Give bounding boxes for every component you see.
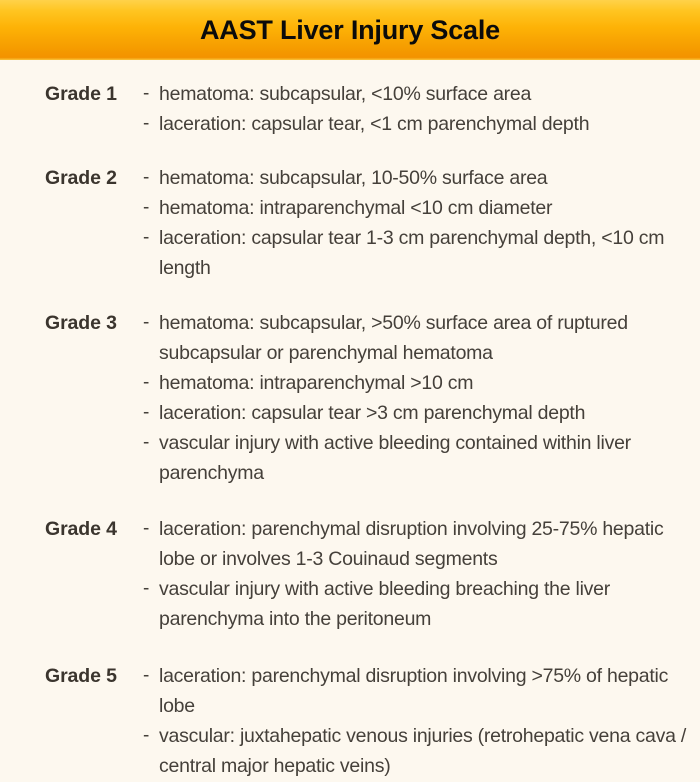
- grade-row-4: Grade 4 - laceration: parenchymal disrup…: [0, 514, 700, 634]
- list-item: - hematoma: intraparenchymal <10 cm diam…: [143, 193, 696, 223]
- grade-items-3: - hematoma: subcapsular, >50% surface ar…: [143, 308, 696, 488]
- grade-items-1: - hematoma: subcapsular, <10% surface ar…: [143, 79, 696, 139]
- list-item-text: laceration: capsular tear >3 cm parenchy…: [159, 398, 696, 428]
- grade-label-4: Grade 4: [45, 514, 143, 544]
- list-item-text: hematoma: subcapsular, <10% surface area: [159, 79, 696, 109]
- aast-liver-injury-scale-sheet: AAST Liver Injury Scale Grade 1 - hemato…: [0, 0, 700, 782]
- list-item-text: laceration: parenchymal disruption invol…: [155, 661, 696, 721]
- grade-row-2: Grade 2 - hematoma: subcapsular, 10-50% …: [0, 163, 700, 283]
- list-item-text: vascular: juxtahepatic venous injuries (…: [155, 721, 696, 781]
- grade-list: Grade 1 - hematoma: subcapsular, <10% su…: [0, 79, 700, 781]
- list-item: - vascular injury with active bleeding b…: [143, 574, 696, 634]
- list-item: - hematoma: intraparenchymal >10 cm: [143, 368, 696, 398]
- list-item-text: laceration: capsular tear, <1 cm parench…: [159, 109, 696, 139]
- list-item-text: hematoma: intraparenchymal <10 cm diamet…: [159, 193, 696, 223]
- list-item-text: vascular injury with active bleeding bre…: [155, 574, 696, 634]
- grade-label-1: Grade 1: [45, 79, 143, 109]
- grade-row-5: Grade 5 - laceration: parenchymal disrup…: [0, 661, 700, 781]
- grade-items-4: - laceration: parenchymal disruption inv…: [143, 514, 696, 634]
- list-item-text: vascular injury with active bleeding con…: [155, 428, 696, 488]
- list-item-text: laceration: capsular tear 1-3 cm parench…: [155, 223, 696, 283]
- list-item: - hematoma: subcapsular, 10-50% surface …: [143, 163, 696, 193]
- list-item: - laceration: capsular tear 1-3 cm paren…: [143, 223, 696, 283]
- list-item: - laceration: capsular tear, <1 cm paren…: [143, 109, 696, 139]
- grade-label-5: Grade 5: [45, 661, 143, 691]
- list-item: - laceration: capsular tear >3 cm parenc…: [143, 398, 696, 428]
- list-item: - laceration: parenchymal disruption inv…: [143, 514, 696, 574]
- list-item-text: hematoma: intraparenchymal >10 cm: [159, 368, 696, 398]
- dash-bullet-icon: -: [143, 368, 159, 398]
- grade-label-2: Grade 2: [45, 163, 143, 193]
- list-item: - laceration: parenchymal disruption inv…: [143, 661, 696, 721]
- grade-row-1: Grade 1 - hematoma: subcapsular, <10% su…: [0, 79, 700, 139]
- grade-items-2: - hematoma: subcapsular, 10-50% surface …: [143, 163, 696, 283]
- page-title: AAST Liver Injury Scale: [190, 17, 510, 44]
- dash-bullet-icon: -: [143, 398, 159, 428]
- list-item-text: laceration: parenchymal disruption invol…: [155, 514, 696, 574]
- dash-bullet-icon: -: [143, 163, 159, 193]
- list-item: - vascular: juxtahepatic venous injuries…: [143, 721, 696, 781]
- list-item: - hematoma: subcapsular, <10% surface ar…: [143, 79, 696, 109]
- grade-items-5: - laceration: parenchymal disruption inv…: [143, 661, 696, 781]
- dash-bullet-icon: -: [143, 109, 159, 139]
- list-item: - hematoma: subcapsular, >50% surface ar…: [143, 308, 696, 368]
- title-banner: AAST Liver Injury Scale: [0, 0, 700, 60]
- list-item: - vascular injury with active bleeding c…: [143, 428, 696, 488]
- grade-label-3: Grade 3: [45, 308, 143, 338]
- list-item-text: hematoma: subcapsular, >50% surface area…: [155, 308, 696, 368]
- dash-bullet-icon: -: [143, 79, 159, 109]
- list-item-text: hematoma: subcapsular, 10-50% surface ar…: [159, 163, 696, 193]
- grade-row-3: Grade 3 - hematoma: subcapsular, >50% su…: [0, 308, 700, 488]
- dash-bullet-icon: -: [143, 193, 159, 223]
